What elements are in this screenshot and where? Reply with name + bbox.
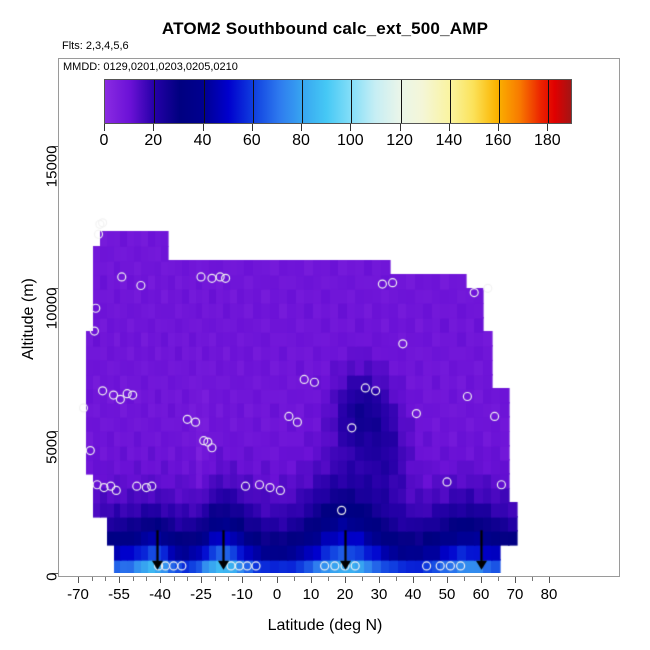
x-axis-tick bbox=[345, 577, 346, 583]
x-axis-tick bbox=[481, 577, 482, 583]
x-axis-tick bbox=[311, 577, 312, 583]
x-axis-minor-tick bbox=[92, 577, 93, 581]
x-axis-minor-tick bbox=[294, 577, 295, 581]
x-axis-minor-tick bbox=[260, 577, 261, 581]
x-axis-minor-tick bbox=[228, 577, 229, 581]
x-axis-title: Latitude (deg N) bbox=[0, 617, 650, 635]
x-axis-tick bbox=[447, 577, 448, 583]
y-axis-tick-label: 5000 bbox=[44, 431, 61, 487]
x-axis-minor-tick bbox=[215, 577, 216, 581]
y-axis-tick-label: 15000 bbox=[44, 146, 61, 202]
x-axis-tick bbox=[242, 577, 243, 583]
x-axis-minor-tick bbox=[498, 577, 499, 581]
x-axis-minor-tick bbox=[328, 577, 329, 581]
x-axis-minor-tick bbox=[430, 577, 431, 581]
x-axis-tick bbox=[201, 577, 202, 583]
x-axis-tick bbox=[119, 577, 120, 583]
y-axis-tick-label: 10000 bbox=[44, 288, 61, 344]
x-axis-tick bbox=[379, 577, 380, 583]
x-axis-tick bbox=[413, 577, 414, 583]
x-axis-minor-tick bbox=[464, 577, 465, 581]
x-axis-tick bbox=[78, 577, 79, 583]
x-axis-minor-tick bbox=[396, 577, 397, 581]
x-axis-minor-tick bbox=[105, 577, 106, 581]
x-axis-tick-label: 80 bbox=[519, 586, 579, 603]
x-axis-minor-tick bbox=[187, 577, 188, 581]
y-axis-title: Altitude (m) bbox=[20, 234, 38, 404]
x-axis-tick bbox=[549, 577, 550, 583]
x-axis-tick bbox=[515, 577, 516, 583]
figure-root: ATOM2 Southbound calc_ext_500_AMP Flts: … bbox=[0, 0, 650, 650]
x-axis-tick bbox=[160, 577, 161, 583]
axis-layer: -70-55-40-25-100102030405060708005000100… bbox=[0, 0, 650, 650]
x-axis-tick bbox=[277, 577, 278, 583]
x-axis-minor-tick bbox=[146, 577, 147, 581]
x-axis-minor-tick bbox=[174, 577, 175, 581]
x-axis-minor-tick bbox=[133, 577, 134, 581]
x-axis-minor-tick bbox=[532, 577, 533, 581]
x-axis-minor-tick bbox=[362, 577, 363, 581]
